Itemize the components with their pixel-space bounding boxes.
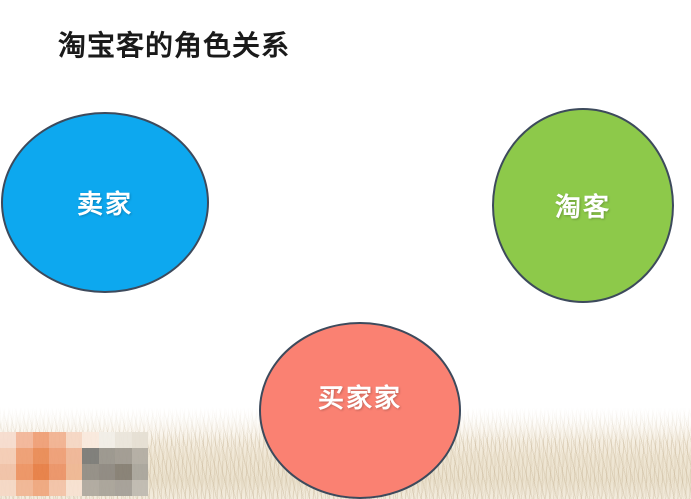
mosaic-tile (99, 432, 115, 448)
mosaic-tile (16, 464, 32, 480)
mosaic-tile (99, 464, 115, 480)
mosaic-tile (132, 464, 148, 480)
diagram-node-seller[interactable]: 卖家 (1, 112, 209, 293)
mosaic-tile (33, 480, 49, 496)
page-title: 淘宝客的角色关系 (58, 31, 290, 62)
mosaic-tile (16, 448, 32, 464)
diagram-node-affiliate-label: 淘客 (555, 187, 611, 224)
mosaic-tile (132, 448, 148, 464)
mosaic-tile (132, 432, 148, 448)
mosaic-tile (66, 464, 82, 480)
mosaic-tile (49, 448, 65, 464)
mosaic-tile (0, 464, 16, 480)
diagram-node-seller-label: 卖家 (77, 184, 133, 221)
mosaic-tile (82, 464, 98, 480)
mosaic-tile (115, 432, 131, 448)
mosaic-tile (66, 432, 82, 448)
mosaic-tile (33, 448, 49, 464)
mosaic-tile (115, 480, 131, 496)
diagram-node-buyer[interactable]: 买家家 (259, 322, 461, 499)
diagram-node-affiliate[interactable]: 淘客 (492, 108, 674, 303)
mosaic-tile (16, 432, 32, 448)
mosaic-tile (66, 448, 82, 464)
mosaic-tile (0, 432, 16, 448)
mosaic-tile (49, 464, 65, 480)
diagram-node-buyer-label: 买家家 (318, 378, 402, 415)
mosaic-tile (16, 480, 32, 496)
mosaic-tile (49, 480, 65, 496)
mosaic-tile (82, 432, 98, 448)
mosaic-tile (33, 464, 49, 480)
mosaic-tile (0, 480, 16, 496)
mosaic-tile (0, 448, 16, 464)
pixelated-mosaic-watermark (0, 432, 148, 496)
mosaic-tile (115, 448, 131, 464)
mosaic-tile (99, 480, 115, 496)
mosaic-tile (33, 432, 49, 448)
mosaic-tile (132, 480, 148, 496)
mosaic-tile (82, 448, 98, 464)
mosaic-tile (66, 480, 82, 496)
mosaic-tile (115, 464, 131, 480)
mosaic-tile (49, 432, 65, 448)
slide-canvas: 淘宝客的角色关系 卖家 淘客 买家家 (0, 0, 691, 499)
mosaic-tile (82, 480, 98, 496)
mosaic-tile (99, 448, 115, 464)
